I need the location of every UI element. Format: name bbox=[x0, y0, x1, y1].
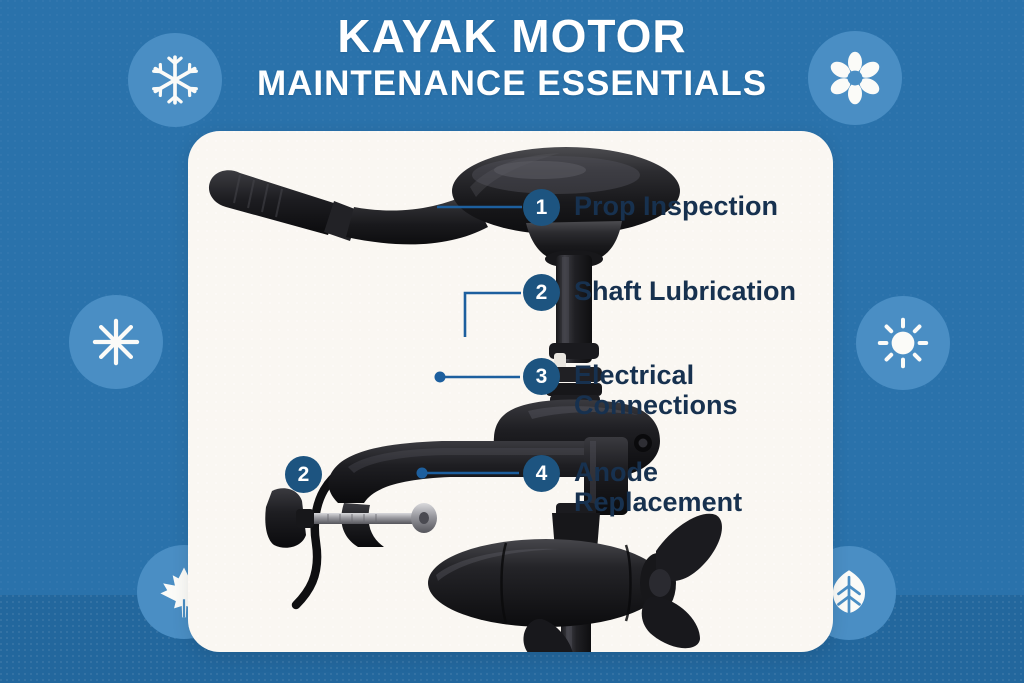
cable-badge-2: 2 bbox=[285, 456, 322, 493]
callout-label-2: Shaft Lubrication bbox=[574, 274, 796, 306]
callout-badge-1: 1 bbox=[523, 189, 560, 226]
header: KAYAK MOTOR MAINTENANCE ESSENTIALS bbox=[0, 12, 1024, 105]
callout-4[interactable]: 4 Anode Replacement bbox=[523, 455, 742, 517]
callout-badge-2: 2 bbox=[523, 274, 560, 311]
callout-2[interactable]: 2 Shaft Lubrication bbox=[523, 274, 796, 311]
infographic-canvas: KAYAK MOTOR MAINTENANCE ESSENTIALS bbox=[0, 0, 1024, 683]
callout-badge-3: 3 bbox=[523, 358, 560, 395]
callout-label-3: Electrical Connections bbox=[574, 358, 738, 420]
page-title: KAYAK MOTOR bbox=[0, 12, 1024, 60]
callout-label-1: Prop Inspection bbox=[574, 189, 778, 221]
callout-label-4: Anode Replacement bbox=[574, 455, 742, 517]
sun-icon bbox=[856, 296, 950, 390]
asterisk-star-icon bbox=[69, 295, 163, 389]
callout-badge-4: 4 bbox=[523, 455, 560, 492]
callout-3[interactable]: 3 Electrical Connections bbox=[523, 358, 738, 420]
callout-1[interactable]: 1 Prop Inspection bbox=[523, 189, 778, 226]
page-subtitle: MAINTENANCE ESSENTIALS bbox=[0, 64, 1024, 104]
